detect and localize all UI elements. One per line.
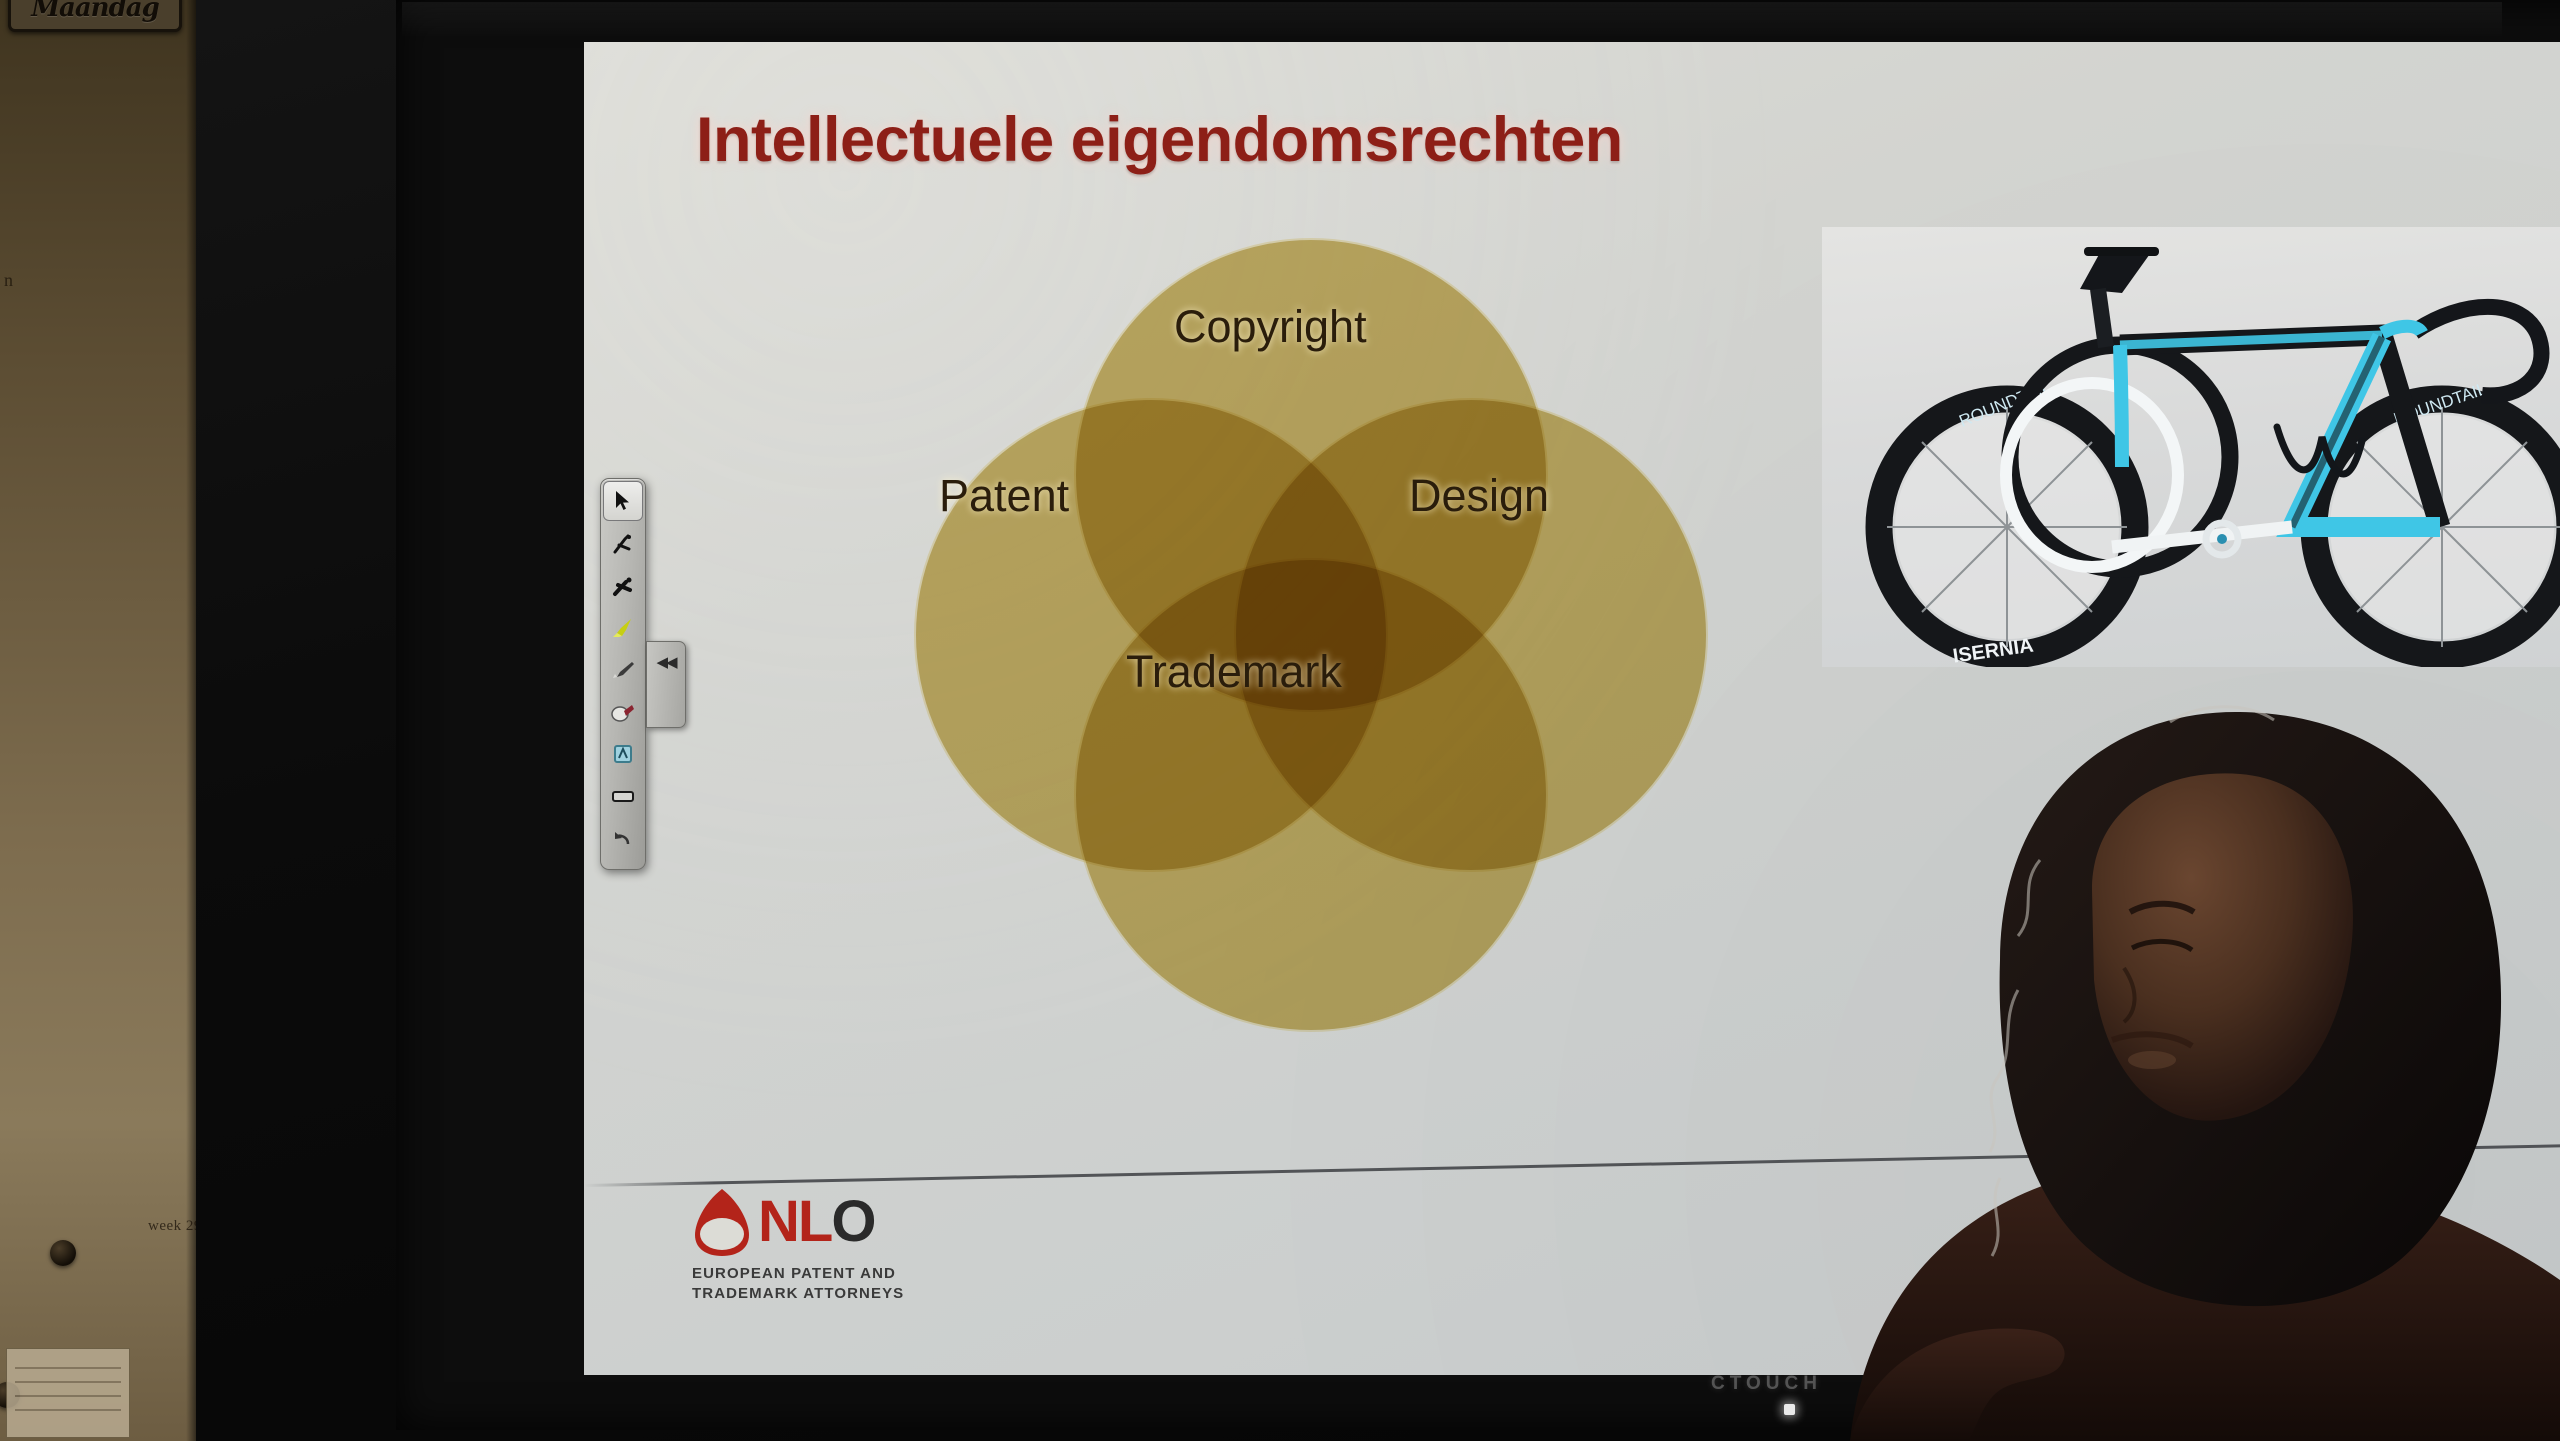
bicycle-illustration: ROUNDTAIL ROUNDTAIL ISERNIA bbox=[1822, 227, 2560, 667]
undo-icon[interactable] bbox=[601, 817, 645, 859]
wall-sign-label: Maandag bbox=[11, 0, 179, 25]
wall-note-card bbox=[6, 1348, 130, 1438]
annotation-toolbar[interactable] bbox=[600, 478, 646, 870]
highlighter-icon[interactable] bbox=[601, 607, 645, 649]
bezel-highlight bbox=[402, 2, 2502, 38]
eraser-icon[interactable] bbox=[601, 691, 645, 733]
bicycle-photo: ROUNDTAIL ROUNDTAIL ISERNIA bbox=[1822, 227, 2560, 667]
chevron-double-left-icon: ◀◀ bbox=[656, 653, 675, 671]
logo-word-nl: NL bbox=[758, 1189, 831, 1254]
toolbar-collapse-button[interactable]: ◀◀ bbox=[646, 641, 686, 728]
rectangle-icon[interactable] bbox=[601, 775, 645, 817]
pen-thin-icon[interactable] bbox=[601, 523, 645, 565]
venn-label-patent: Patent bbox=[939, 470, 1069, 522]
venn-label-copyright: Copyright bbox=[1174, 301, 1367, 353]
power-led-indicator bbox=[1784, 1404, 1795, 1415]
venn-diagram: Copyright Patent Design Trademark bbox=[914, 238, 1704, 1028]
logo-word-o: O bbox=[831, 1189, 874, 1254]
interactive-display[interactable]: Intellectuele eigendomsrechten Copyright… bbox=[196, 0, 2560, 1441]
wall-sign: Maandag bbox=[8, 0, 182, 32]
venn-label-design: Design bbox=[1409, 470, 1549, 522]
logo-tagline-line1: EUROPEAN PATENT AND bbox=[692, 1264, 904, 1284]
display-brand-label: CTOUCH bbox=[1711, 1373, 1822, 1395]
venn-label-trademark: Trademark bbox=[1126, 646, 1342, 698]
wall-scuff-upper: n bbox=[4, 270, 14, 291]
shape-icon[interactable] bbox=[601, 733, 645, 775]
wall-handwriting: week 29 bbox=[148, 1218, 202, 1235]
presentation-slide[interactable]: Intellectuele eigendomsrechten Copyright… bbox=[584, 42, 2560, 1375]
logo-tagline-line2: TRADEMARK ATTORNEYS bbox=[692, 1284, 904, 1304]
logo-wordmark: NLO bbox=[758, 1193, 874, 1251]
venn-circle-trademark bbox=[1074, 558, 1548, 1032]
pen-thick-icon[interactable] bbox=[601, 565, 645, 607]
page-title: Intellectuele eigendomsrechten bbox=[696, 104, 1623, 176]
select-cursor-icon[interactable] bbox=[603, 481, 643, 521]
pencil-icon[interactable] bbox=[601, 649, 645, 691]
logo-drop-icon bbox=[692, 1187, 752, 1257]
wall-pin-1 bbox=[50, 1240, 76, 1266]
logo-tagline: EUROPEAN PATENT AND TRADEMARK ATTORNEYS bbox=[692, 1264, 904, 1305]
nlo-logo: NLO EUROPEAN PATENT AND TRADEMARK ATTORN… bbox=[692, 1187, 904, 1305]
